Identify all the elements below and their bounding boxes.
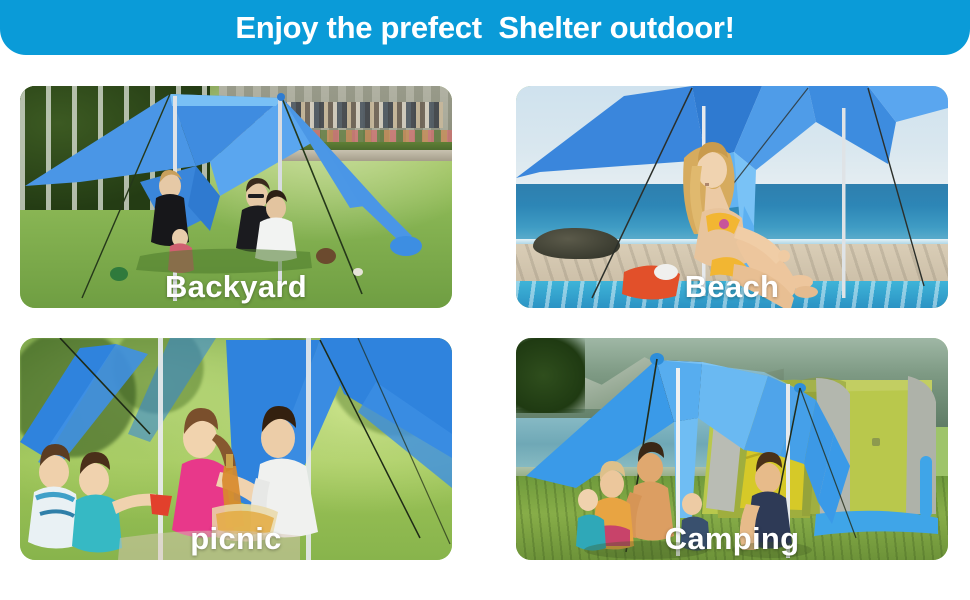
header-banner: Enjoy the prefect Shelter outdoor! [0,0,970,55]
tile-label-camping: Camping [516,523,948,556]
tile-label-beach: Beach [516,271,948,304]
product-feature-banner: Enjoy the prefect Shelter outdoor! [0,0,970,600]
scenario-tile-beach[interactable]: Beach [516,86,948,308]
tile-label-backyard: Backyard [20,271,452,304]
scenario-tile-picnic[interactable]: picnic [20,338,452,560]
header-title: Enjoy the prefect Shelter outdoor! [235,12,734,43]
tile-label-picnic: picnic [20,523,452,556]
scenario-tile-grid: Backyard [20,86,948,560]
scenario-tile-camping[interactable]: Camping [516,338,948,560]
scenario-tile-backyard[interactable]: Backyard [20,86,452,308]
